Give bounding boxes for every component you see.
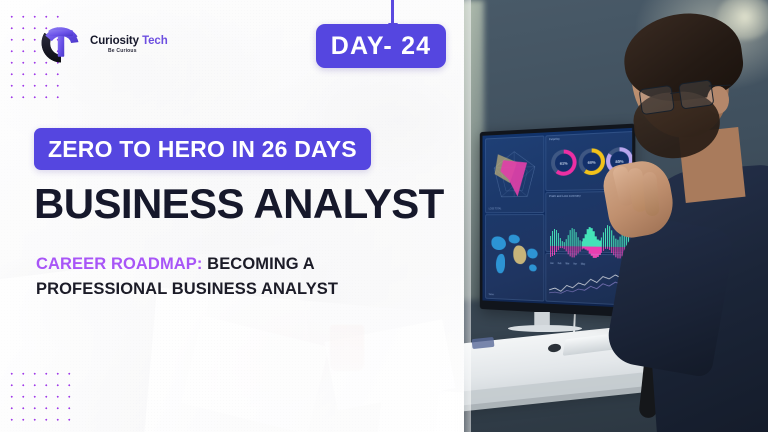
brand-name: Curiosity Tech — [90, 36, 168, 48]
gauge-value: 60% — [583, 152, 601, 171]
donut-gauge: 61% — [551, 149, 577, 176]
line-chart-legend: JanFebMarAprMay — [550, 263, 585, 266]
subtitle: CAREER ROADMAP: BECOMING A PROFESSIONAL … — [36, 252, 446, 302]
legend-item: Mar — [565, 263, 569, 265]
glasses-lens — [639, 85, 675, 115]
glasses-bridge — [670, 92, 679, 95]
map-landmass — [491, 236, 506, 250]
course-banner: ZERO TO HERO IN 26 DAYS — [34, 128, 371, 170]
day-badge: DAY- 24 — [316, 24, 446, 68]
gauges-card-title: Fulprilsy — [549, 138, 560, 142]
curiosity-tech-c-logo-icon — [38, 20, 84, 66]
hero-photo: LOSS TOTAL Fulprilsy 61% 60% 85% Profit … — [464, 0, 768, 432]
gauge-value: 61% — [555, 153, 573, 172]
map-landmass — [527, 249, 537, 259]
legend-item: Apr — [573, 263, 577, 265]
bars-card-title: Profit and Loss summary — [549, 195, 581, 198]
left-content-panel: Curiosity Tech Be Curious ZERO TO HERO I… — [0, 0, 466, 432]
world-map-icon — [490, 229, 541, 289]
legend-item: May — [581, 264, 585, 266]
brand-name-primary: Curiosity — [90, 35, 139, 47]
map-landmass — [496, 254, 505, 274]
glasses-lens — [678, 79, 714, 109]
legend-item: Feb — [558, 263, 562, 265]
map-card-label: Sales — [489, 294, 494, 296]
donut-gauge: 60% — [579, 148, 605, 175]
legend-item: Jan — [550, 263, 554, 265]
subtitle-highlight: CAREER ROADMAP: — [36, 255, 203, 273]
radar-card-label: LOSS TOTAL — [489, 208, 502, 210]
brand-logo[interactable]: Curiosity Tech Be Curious — [38, 20, 168, 66]
map-landmass — [509, 235, 520, 244]
dashboard-radar-card: LOSS TOTAL — [485, 135, 544, 213]
dashboard-map-card: Sales — [485, 214, 544, 301]
brand-tagline: Be Curious — [108, 49, 168, 54]
map-landmass — [529, 264, 537, 271]
map-landmass — [513, 245, 526, 264]
down-arrow-icon — [391, 0, 394, 25]
dot-grid-bottom-left — [6, 368, 76, 430]
poster-canvas: Curiosity Tech Be Curious ZERO TO HERO I… — [0, 0, 768, 432]
brand-logo-text: Curiosity Tech Be Curious — [90, 32, 168, 55]
brand-name-secondary: Tech — [142, 35, 168, 47]
page-title: BUSINESS ANALYST — [34, 182, 444, 226]
monitor-base — [508, 325, 582, 332]
